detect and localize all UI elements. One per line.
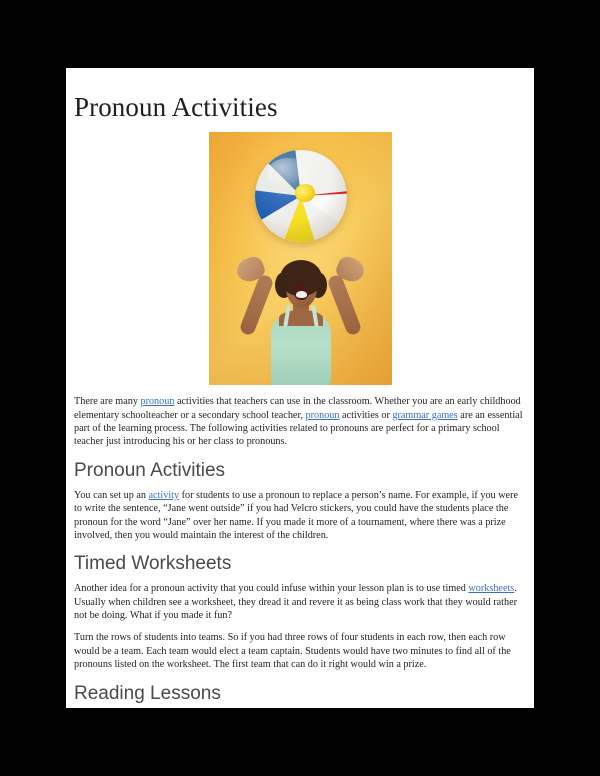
link-pronoun-1[interactable]: pronoun	[140, 396, 174, 407]
section-heading-timed-worksheets: Timed Worksheets	[74, 553, 526, 575]
link-activity[interactable]: activity	[149, 490, 180, 501]
section-paragraph-timed-worksheets-2: Turn the rows of students into teams. So…	[74, 631, 526, 671]
intro-paragraph: There are many pronoun activities that t…	[74, 395, 526, 449]
intro-text-1: There are many	[74, 396, 140, 407]
paragraph-text-1: You can set up an	[74, 490, 149, 501]
girl-with-beach-ball-photo	[209, 132, 392, 385]
page-title: Pronoun Activities	[74, 92, 526, 122]
link-grammar-games[interactable]: grammar games	[392, 410, 457, 421]
intro-text-3: activities or	[340, 410, 393, 421]
link-worksheets[interactable]: worksheets	[468, 583, 514, 594]
paragraph-text-1: Another idea for a pronoun activity that…	[74, 583, 468, 594]
section-paragraph-timed-worksheets-1: Another idea for a pronoun activity that…	[74, 582, 526, 622]
section-heading-pronoun-activities: Pronoun Activities	[74, 460, 526, 482]
section-paragraph-pronoun-activities: You can set up an activity for students …	[74, 489, 526, 543]
girl-figure	[209, 250, 392, 385]
section-heading-reading-lessons: Reading Lessons	[74, 683, 526, 705]
document-body: Pronoun Activities	[66, 92, 534, 708]
figure-container	[74, 132, 526, 385]
link-pronoun-2[interactable]: pronoun	[306, 410, 340, 421]
document-page: Pronoun Activities	[66, 68, 534, 708]
beach-ball-icon	[255, 150, 347, 242]
